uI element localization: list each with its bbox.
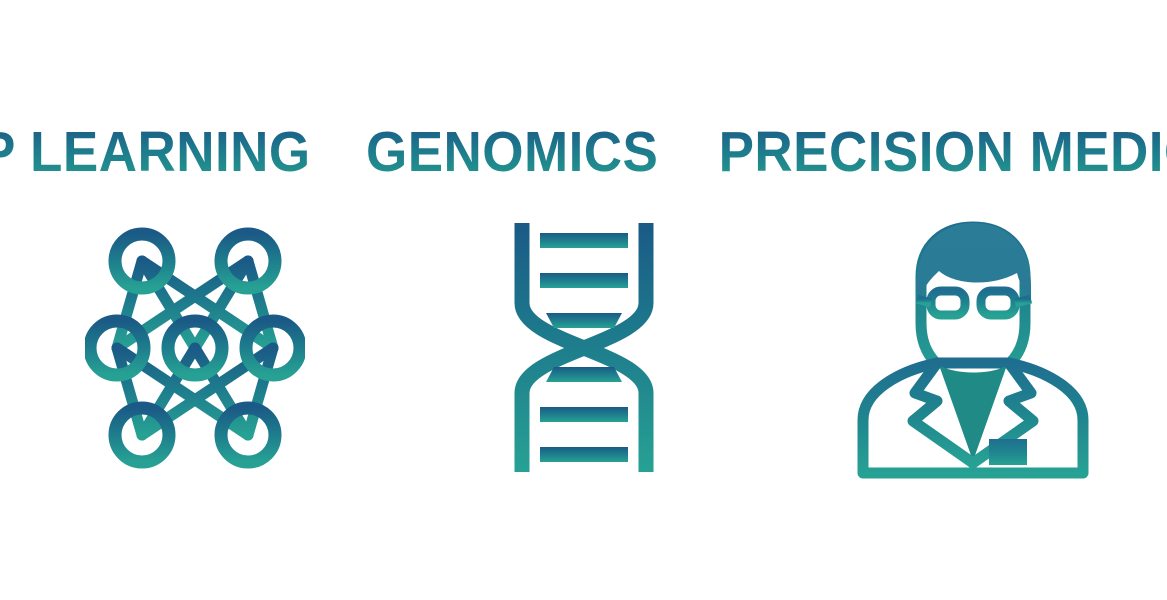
heading-row: DEEP LEARNING GENOMICS PRECISION MEDICIN… (0, 122, 1167, 182)
heading-precision-medicine: PRECISION MEDICINE (719, 124, 1167, 181)
infographic-canvas: DEEP LEARNING GENOMICS PRECISION MEDICIN… (0, 0, 1167, 600)
dna-rung-2 (540, 273, 628, 288)
doctor-icon (851, 215, 1095, 480)
dna-rung-4 (546, 367, 622, 382)
dna-helix-icon-slot (389, 210, 778, 485)
dna-rung-6 (540, 447, 628, 462)
dna-strand-right (522, 223, 646, 472)
dna-rung-5 (540, 407, 628, 422)
glasses-temple-right (1015, 299, 1031, 303)
dna-rung-3 (546, 313, 622, 328)
dna-strands (522, 223, 646, 472)
glasses-lens-right (981, 291, 1015, 315)
dna-helix-icon (504, 215, 664, 480)
glasses-temple-left (917, 299, 931, 303)
neural-network-icon-slot (0, 210, 389, 485)
neural-network-icon (85, 215, 305, 480)
dna-rung-1 (540, 233, 628, 248)
heading-deep-learning: DEEP LEARNING (0, 124, 310, 181)
heading-genomics: GENOMICS (366, 124, 658, 181)
icon-row (0, 210, 1167, 485)
glasses-lens-left (931, 291, 965, 315)
doctor-icon-slot (778, 210, 1167, 485)
doctor-chest-pocket (989, 439, 1027, 465)
